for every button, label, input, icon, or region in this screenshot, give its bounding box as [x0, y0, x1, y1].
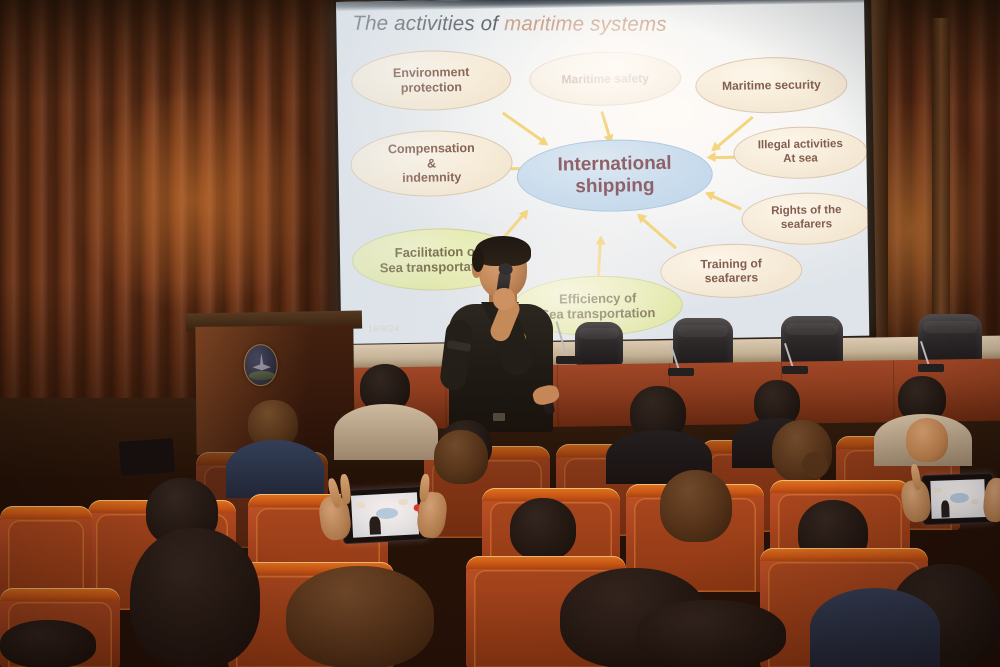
seat-trim — [0, 506, 92, 519]
slide-node-illegal-activities-at-sea: Illegal activities At sea — [733, 126, 868, 180]
microphone-base-2 — [668, 368, 694, 376]
audience-head-front-1 — [130, 528, 260, 667]
audience-shoulders-2 — [226, 440, 324, 498]
phone-screen-left — [351, 493, 419, 538]
node-line3: indemnity — [402, 170, 461, 185]
phone-slide-presenter-silhouette — [369, 516, 380, 535]
phone-slide-node — [399, 499, 409, 505]
phone-slide-node — [971, 499, 979, 505]
presenter-hair — [475, 236, 531, 266]
laptop-on-stage — [119, 438, 175, 476]
microphone-base-3 — [782, 366, 808, 374]
audience-head-10 — [510, 498, 576, 560]
arrow-illegal-to-center — [708, 156, 736, 159]
seat-trim — [760, 548, 928, 561]
slide-node-environment-protection: Environment protection — [351, 49, 512, 112]
screen-top-bar — [336, 0, 864, 11]
arrow-efficiency-to-center — [597, 237, 602, 277]
slide-node-rights-of-the-seafarers: Rights of the seafarers — [741, 192, 869, 246]
panel-chair-4 — [575, 322, 623, 366]
institutional-crest-icon — [244, 344, 278, 386]
presenter — [437, 236, 563, 432]
arrow-training-to-center — [637, 214, 677, 249]
seat-trim — [0, 588, 120, 601]
node-line1: Maritime safety — [561, 71, 649, 87]
center-node-line1: International — [557, 152, 671, 175]
node-line1: Illegal activities — [758, 138, 843, 151]
audience-shoulders-1 — [334, 404, 438, 460]
panel-chair-1 — [673, 318, 733, 368]
node-line1: Rights of the — [771, 205, 841, 218]
presenter-right-hand — [493, 288, 515, 310]
phone-slide-node — [933, 487, 941, 493]
center-node-line2: shipping — [575, 175, 654, 197]
node-line2: & — [427, 156, 436, 170]
slide-node-training-of-seafarers: Training of seafarers — [660, 243, 803, 299]
slide-node-compensation-indemnity: Compensation & indemnity — [350, 129, 513, 198]
node-line2: protection — [401, 80, 462, 95]
seat-trim — [466, 556, 626, 569]
slide-title: The activities of maritime systems — [352, 12, 772, 37]
slide-node-maritime-security: Maritime security — [695, 56, 848, 114]
audience-hair-bun — [802, 452, 828, 478]
audience-shoulders-front — [810, 588, 940, 667]
audience-head-front-2 — [286, 566, 434, 667]
microphone-base-4 — [918, 364, 944, 372]
auditorium-scene: The activities of maritime systems Envir… — [0, 0, 1000, 667]
audience-head-13 — [906, 418, 948, 462]
slide-title-part2: maritime systems — [504, 12, 667, 36]
audience-head-front-4 — [636, 600, 786, 667]
node-line2: At sea — [783, 152, 818, 165]
slide-title-part1: The activities of — [352, 12, 504, 36]
node-line2: seafarers — [781, 218, 832, 231]
phone-slide-node — [355, 502, 365, 508]
phone-screen-right — [930, 479, 986, 519]
arrow-safety-to-center — [600, 111, 612, 142]
node-line2: seafarers — [705, 270, 759, 285]
node-line1: Training of — [700, 256, 762, 271]
recording-phone-left[interactable] — [341, 486, 430, 544]
audience-head-11 — [660, 470, 732, 542]
node-line1: Compensation — [388, 141, 475, 156]
slide-date-stamp: 16/9/24 — [368, 323, 399, 333]
node-line1: Maritime security — [722, 77, 821, 93]
audience-head-9 — [434, 430, 488, 484]
audience-head-front-6 — [0, 620, 96, 667]
node-line1: Environment — [393, 65, 470, 80]
projection-screen: The activities of maritime systems Envir… — [336, 0, 869, 344]
node-line1: Efficiency of — [559, 290, 637, 306]
panel-chair-3 — [918, 314, 982, 364]
arrow-env-to-center — [502, 112, 548, 146]
arrow-rights-to-center — [706, 192, 742, 210]
seat-trim — [770, 480, 910, 493]
phone-slide-center-node — [950, 492, 969, 503]
slide-node-maritime-safety: Maritime safety — [529, 51, 682, 107]
phone-slide-presenter-silhouette — [941, 500, 950, 517]
slide-node-international-shipping: International shipping — [516, 138, 713, 213]
